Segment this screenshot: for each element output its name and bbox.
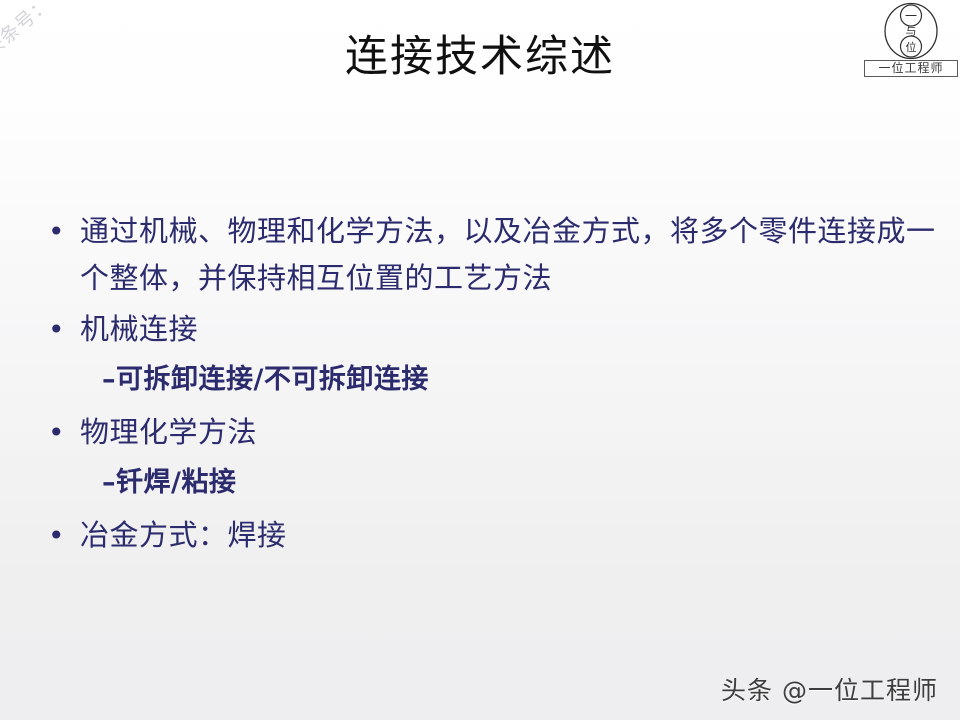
svg-text:与: 与: [906, 25, 917, 38]
sub-bullet-item: –钎焊/粘接: [40, 460, 940, 506]
bullet-dot-icon: •: [40, 512, 80, 559]
bullet-item: • 物理化学方法: [40, 409, 940, 456]
bullet-item: • 通过机械、物理和化学方法，以及冶金方式，将多个零件连接成一个整体，并保持相互…: [40, 208, 940, 302]
bullet-item: • 机械连接: [40, 306, 940, 353]
svg-text:一: 一: [905, 9, 917, 23]
footer-watermark: 头条 @一位工程师: [721, 676, 938, 706]
brand-circle-icon: 一 与 位: [876, 2, 946, 60]
slide-body-list: • 通过机械、物理和化学方法，以及冶金方式，将多个零件连接成一个整体，并保持相互…: [40, 208, 940, 563]
sub-bullet-text: –钎焊/粘接: [102, 460, 940, 506]
bullet-text: 冶金方式：焊接: [80, 512, 940, 559]
brand-logo: 一 与 位 一位工程师: [864, 2, 960, 78]
svg-text:位: 位: [906, 40, 917, 54]
bullet-text: 通过机械、物理和化学方法，以及冶金方式，将多个零件连接成一个整体，并保持相互位置…: [80, 208, 940, 302]
presentation-slide: 头条号：一位工程师 连接技术综述 一 与 位 一位工程师 • 通过机械、物理和化…: [0, 0, 960, 720]
sub-bullet-item: –可拆卸连接/不可拆卸连接: [40, 357, 940, 403]
bullet-text: 物理化学方法: [80, 409, 940, 456]
bullet-dot-icon: •: [40, 208, 80, 255]
sub-bullet-text: –可拆卸连接/不可拆卸连接: [102, 357, 940, 403]
bullet-text: 机械连接: [80, 306, 940, 353]
slide-title: 连接技术综述: [0, 30, 960, 84]
brand-caption: 一位工程师: [864, 60, 958, 77]
bullet-dot-icon: •: [40, 306, 80, 353]
bullet-item: • 冶金方式：焊接: [40, 512, 940, 559]
bullet-dot-icon: •: [40, 409, 80, 456]
